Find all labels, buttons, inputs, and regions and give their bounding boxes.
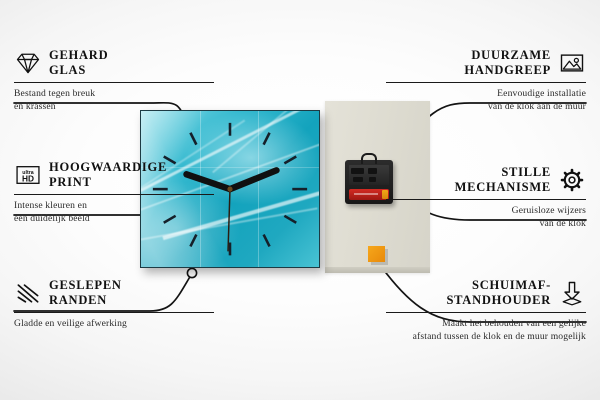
feature-schuimaf-standhouder: SCHUIMAF- STANDHOUDER Maakt het behouden… <box>386 278 586 343</box>
svg-text:HD: HD <box>22 174 34 184</box>
infographic-stage: GEHARD GLAS Bestand tegen breuk en krass… <box>0 0 600 400</box>
feature-desc-line2: van de klok aan de muur <box>386 100 586 113</box>
diamond-icon <box>14 49 42 77</box>
divider <box>386 82 586 83</box>
feature-duurzame-handgreep: DUURZAME HANDGREEP Eenvoudige installati… <box>386 48 586 113</box>
feature-title-line2: MECHANISME <box>455 180 551 195</box>
battery <box>349 189 389 200</box>
divider <box>14 312 214 313</box>
divider <box>386 199 586 200</box>
feature-hoogwaardige-print: ultra HD HOOGWAARDIGE PRINT Intense kleu… <box>14 160 214 225</box>
gear-icon <box>558 166 586 194</box>
feature-title-line2: STANDHOUDER <box>446 293 551 308</box>
feature-desc-line1: Gladde en veilige afwerking <box>14 317 214 330</box>
feature-geslepen-randen: GESLEPEN RANDEN Gladde en veilige afwerk… <box>14 278 214 330</box>
picture-frame-icon <box>558 49 586 77</box>
feature-title-line1: GESLEPEN <box>49 278 122 293</box>
second-hand <box>228 189 230 251</box>
feature-desc-line2: en krassen <box>14 100 214 113</box>
ultra-hd-icon: ultra HD <box>14 161 42 189</box>
feature-title-line2: RANDEN <box>49 293 122 308</box>
feature-desc-line1: Bestand tegen breuk <box>14 87 214 100</box>
divider <box>386 312 586 313</box>
feature-desc-line2: van de klok <box>386 217 586 230</box>
feature-title-line1: SCHUIMAF- <box>446 278 551 293</box>
minute-hand <box>230 170 276 189</box>
feature-gehard-glas: GEHARD GLAS Bestand tegen breuk en krass… <box>14 48 214 113</box>
feature-desc-line2: een duidelijk beeld <box>14 212 214 225</box>
feature-title-line2: GLAS <box>49 63 108 78</box>
feature-title-line2: PRINT <box>49 175 167 190</box>
feature-stille-mechanisme: STILLE MECHANISME <box>386 165 586 230</box>
divider <box>14 194 214 195</box>
feature-title-line1: DUURZAME <box>464 48 551 63</box>
divider <box>14 82 214 83</box>
feature-desc-line1: Intense kleuren en <box>14 199 214 212</box>
feature-desc-line1: Eenvoudige installatie <box>386 87 586 100</box>
feature-title-line2: HANDGREEP <box>464 63 551 78</box>
diagonal-lines-icon <box>14 279 42 307</box>
feature-desc-line1: Maakt het behouden van een gelijke <box>386 317 586 330</box>
feature-desc-line2: afstand tussen de klok en de muur mogeli… <box>386 330 586 343</box>
feature-title-line1: HOOGWAARDIGE <box>49 160 167 175</box>
down-arrow-pad-icon <box>558 279 586 307</box>
clock-center-cap <box>227 187 232 192</box>
foam-spacer-pad <box>368 246 385 262</box>
feature-title-line1: STILLE <box>455 165 551 180</box>
feature-desc-line1: Geruisloze wijzers <box>386 204 586 217</box>
feature-title-line1: GEHARD <box>49 48 108 63</box>
